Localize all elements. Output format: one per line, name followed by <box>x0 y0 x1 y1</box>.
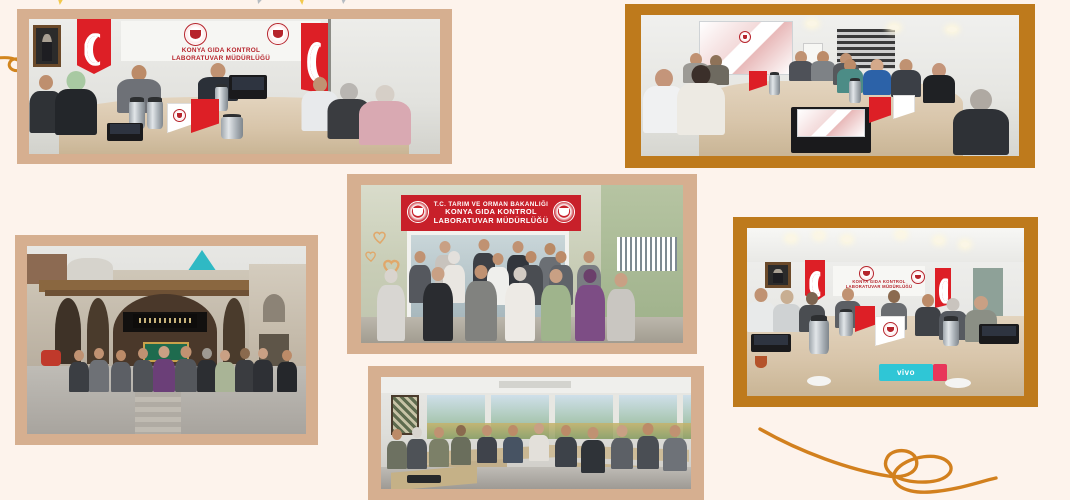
photo-image-meeting-room-main: KONYA GIDA KONTROL LABORATUVAR MÜDÜRLÜĞÜ <box>29 19 440 154</box>
attendee-8 <box>555 425 577 467</box>
laptop-left <box>751 334 791 352</box>
banner-seal-right <box>553 201 575 223</box>
ministry-seal-center <box>184 23 207 46</box>
ataturk-portrait <box>765 262 791 288</box>
bottom-right-swirl-decoration <box>730 418 1000 500</box>
attendee-11 <box>637 423 659 469</box>
attendee-10 <box>611 425 633 469</box>
attendee-7 <box>529 423 549 461</box>
photo-frame-meeting-room-second[interactable]: KONYA GIDA KONTROL LABORATUVAR MÜDÜRLÜĞÜ <box>733 217 1038 407</box>
turkish-flag-left <box>77 19 111 74</box>
product-box: vivo <box>879 364 933 381</box>
museum-person-10 <box>253 348 273 392</box>
attendee-2 <box>407 427 427 469</box>
photo-image-mevlana-museum-group <box>27 246 306 434</box>
museum-person-11 <box>277 350 297 392</box>
photo-image-meeting-room-second: KONYA GIDA KONTROL LABORATUVAR MÜDÜRLÜĞÜ <box>747 228 1024 396</box>
museum-person-5 <box>153 346 175 392</box>
decor-speck-yellow-2 <box>298 0 305 5</box>
person-back-4 <box>811 51 835 81</box>
wall-text-line-2: LABORATUVAR MÜDÜRLÜĞÜ <box>121 55 321 63</box>
attendee-6 <box>503 425 523 463</box>
person-black-shirt <box>923 63 955 103</box>
photo-image-group-building-entrance: T.C. TARIM VE ORMAN BAKANLIĞI KONYA GIDA… <box>361 185 683 343</box>
museum-person-2 <box>89 348 109 392</box>
photo-frame-group-building-entrance[interactable]: T.C. TARIM VE ORMAN BAKANLIĞI KONYA GIDA… <box>347 174 697 354</box>
thermos-4 <box>221 117 243 139</box>
decor-speck-gray-1 <box>256 0 263 4</box>
attendee-3 <box>429 427 449 467</box>
group-person-front-1 <box>377 269 405 341</box>
museum-person-6 <box>175 346 197 392</box>
group-person-front-3 <box>465 265 497 341</box>
museum-person-8 <box>215 350 235 392</box>
gallery-canvas: KONYA GIDA KONTROL LABORATUVAR MÜDÜRLÜĞÜ <box>0 0 1070 500</box>
product-box-label: vivo <box>897 368 915 377</box>
photo-image-meeting-presentation <box>641 15 1019 156</box>
museum-person-3 <box>111 350 131 392</box>
person-suit-right <box>891 59 921 97</box>
attendee-4 <box>451 425 471 465</box>
person-back-3 <box>789 51 813 81</box>
person-blue-blazer <box>863 59 891 95</box>
heart-decoration-2 <box>365 251 377 262</box>
thermos-3 <box>943 320 959 346</box>
thermos-2 <box>147 101 163 129</box>
laptop-right <box>979 324 1019 344</box>
laptop-1 <box>229 75 267 99</box>
wall-text-line-1: KONYA GIDA KONTROL <box>121 47 321 55</box>
person-foreground-left-2 <box>677 65 725 135</box>
decor-speck-yellow-1 <box>57 0 64 5</box>
museum-person-9 <box>235 348 255 392</box>
thermos-2 <box>839 312 853 336</box>
group-person-front-2 <box>423 267 453 341</box>
person-foreground-right <box>953 89 1009 155</box>
person-right-3 <box>359 85 411 145</box>
photo-image-training-hall <box>381 377 691 489</box>
ataturk-portrait <box>33 25 61 67</box>
group-person-front-6 <box>575 269 605 341</box>
group-person-front-5 <box>541 269 571 341</box>
attendee-5 <box>477 425 497 463</box>
attendee-9 <box>581 427 605 473</box>
banner-seal-left <box>407 201 429 223</box>
museum-person-1 <box>69 350 89 392</box>
decor-speck-gray-2 <box>340 0 347 4</box>
person-right-1 <box>915 294 941 336</box>
person-left-2 <box>773 290 801 332</box>
attendee-12 <box>663 425 687 471</box>
group-person-front-7 <box>607 273 635 341</box>
group-person-front-4 <box>505 267 535 341</box>
ministry-seal-right <box>911 270 925 284</box>
banner-line-3: LABORATUVAR MÜDÜRLÜĞÜ <box>434 217 549 226</box>
photo-frame-meeting-presentation[interactable] <box>625 4 1035 168</box>
thermos-1 <box>809 320 829 354</box>
attendee-1 <box>387 429 407 469</box>
heart-decoration-1 <box>373 231 387 244</box>
photo-frame-training-hall[interactable] <box>368 366 704 500</box>
laptop-2 <box>107 123 143 141</box>
photo-frame-meeting-room-main[interactable]: KONYA GIDA KONTROL LABORATUVAR MÜDÜRLÜĞÜ <box>17 9 452 164</box>
person-left-1 <box>747 288 775 332</box>
photo-frame-mevlana-museum-group[interactable] <box>15 235 318 445</box>
museum-person-7 <box>197 348 217 392</box>
wall-text-main: KONYA GIDA KONTROL LABORATUVAR MÜDÜRLÜĞÜ <box>121 47 321 62</box>
museum-person-4 <box>133 348 153 392</box>
person-left-2 <box>55 71 97 135</box>
ministry-seal-right <box>267 23 289 45</box>
